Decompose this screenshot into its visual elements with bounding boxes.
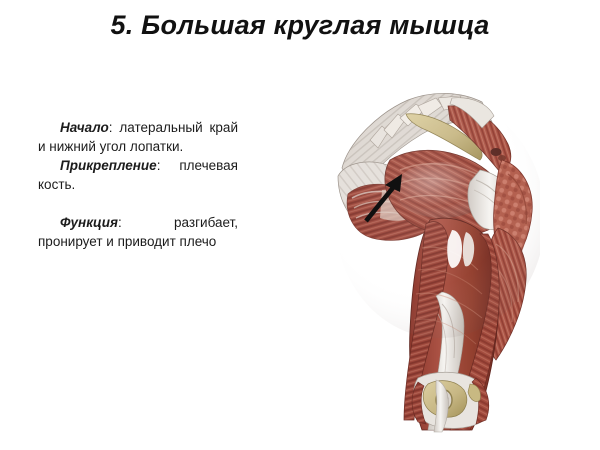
paragraph-spacer <box>38 194 238 213</box>
term-label-origin: Начало <box>60 120 109 135</box>
elbow-region <box>412 372 489 432</box>
anatomy-illustration <box>330 48 540 433</box>
paragraph-origin: Начало: латеральный край и нижний угол л… <box>38 118 238 156</box>
term-label-function: Функция <box>60 215 118 230</box>
description-text-block: Начало: латеральный край и нижний угол л… <box>38 118 238 251</box>
page-title: 5. Большая круглая мышца <box>0 10 600 41</box>
term-label-insertion: Прикрепление <box>60 158 157 173</box>
paragraph-function: Функция: разгибает, пронирует и приводит… <box>38 213 238 251</box>
paragraph-insertion: Прикрепление: плечевая кость. <box>38 156 238 194</box>
